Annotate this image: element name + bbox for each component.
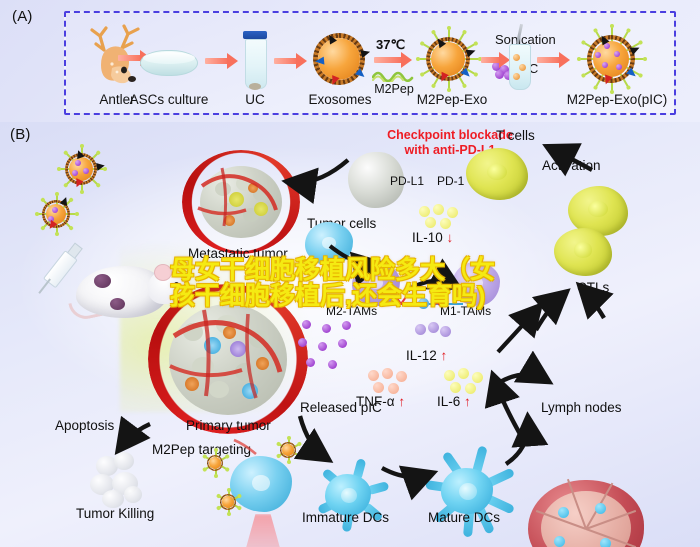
released-plc-particles-icon: [298, 320, 354, 376]
t-cells-label: T cells: [496, 128, 535, 143]
metastatic-tumor-label: Metastatic tumor: [188, 246, 288, 261]
loaded-exosome-icon: [578, 26, 644, 92]
il6-up-arrow: ↑: [464, 394, 471, 409]
tumor-killing-label: Tumor Killing: [76, 506, 154, 521]
il12-particles-icon: [415, 322, 455, 344]
pd-l1-receptor-icon: [418, 298, 429, 309]
t-cell-icon: [466, 148, 528, 200]
m1-tam-icon: [452, 262, 500, 306]
primary-tumor-label: Primary tumor: [186, 418, 271, 433]
tnf-up-arrow: ↑: [398, 394, 405, 409]
m2pep-targeting-label: M2Pep targeting: [152, 442, 251, 457]
scientific-figure: (A) Antler ASC: [0, 0, 700, 547]
il12-up-arrow: ↑: [441, 348, 448, 363]
primary-tumor-icon: [148, 284, 308, 434]
centrifuge-tube-icon: [243, 31, 267, 93]
apoptotic-cell-icon: [88, 452, 150, 510]
ctls-label: CTLs: [577, 280, 609, 295]
il12-text: IL-12: [406, 348, 437, 363]
temperature-label: 37℃: [376, 37, 405, 53]
panel-b: Metastatic tumor Tumor cells Checkpoint …: [0, 122, 700, 547]
exosome-icon: [311, 31, 367, 87]
panel-b-letter: (B): [10, 126, 31, 143]
panel-a: (A) Antler ASC: [0, 0, 700, 122]
targeting-exosome-icon: [202, 450, 228, 476]
sonication-tube-icon: [506, 28, 532, 94]
m2-tam-icon: [352, 262, 400, 306]
il6-label: IL-6 ↑: [437, 394, 471, 409]
pd-1-label: PD-1: [437, 174, 464, 188]
pd-l1-label: PD-L1: [390, 174, 424, 188]
released-plc-label: Released pIC: [300, 400, 382, 415]
panel-a-letter: (A): [12, 8, 33, 25]
il10-label: IL-10 ↓: [412, 230, 453, 245]
step-label-m2pep-exo: M2Pep-Exo: [404, 92, 500, 107]
il12-label: IL-12 ↑: [406, 348, 447, 363]
mature-dcs-label: Mature DCs: [428, 510, 500, 525]
targeting-beam: [236, 514, 290, 547]
targeting-exosome-icon: [216, 490, 240, 514]
petri-dish-icon: [140, 50, 198, 76]
macrophage-blue-icon: [305, 222, 353, 266]
peptide-exosome-icon: [417, 28, 479, 90]
checkpoint-line-1: Checkpoint blockade: [387, 128, 513, 142]
m1-tams-label: M1-TAMs: [440, 304, 491, 318]
lymph-node-icon: [528, 480, 644, 547]
free-exosome-icon: [36, 194, 76, 234]
m2-tams-label: M2-TAMs: [326, 304, 377, 318]
apoptosis-label: Apoptosis: [55, 418, 114, 433]
il6-particles-icon: [444, 368, 490, 396]
activation-label: Activation: [542, 158, 601, 173]
il10-text: IL-10: [412, 230, 443, 245]
lymph-nodes-label: Lymph nodes: [541, 400, 622, 415]
il10-particles-icon: [419, 204, 465, 232]
ctl-cell-icon: [554, 228, 612, 276]
immature-dcs-label: Immature DCs: [302, 510, 389, 525]
free-exosome-icon: [58, 146, 104, 192]
step-label-ascs: ASCs culture: [113, 92, 225, 107]
step-label-uc: UC: [228, 92, 282, 107]
step-label-m2pep-exo-plc: M2Pep-Exo(pIC): [553, 92, 681, 107]
metastatic-tumor-icon: [182, 150, 300, 254]
il6-text: IL-6: [437, 394, 460, 409]
il10-down-arrow: ↓: [447, 230, 454, 245]
tnf-particles-icon: [368, 368, 414, 396]
targeting-exosome-icon: [276, 438, 300, 462]
